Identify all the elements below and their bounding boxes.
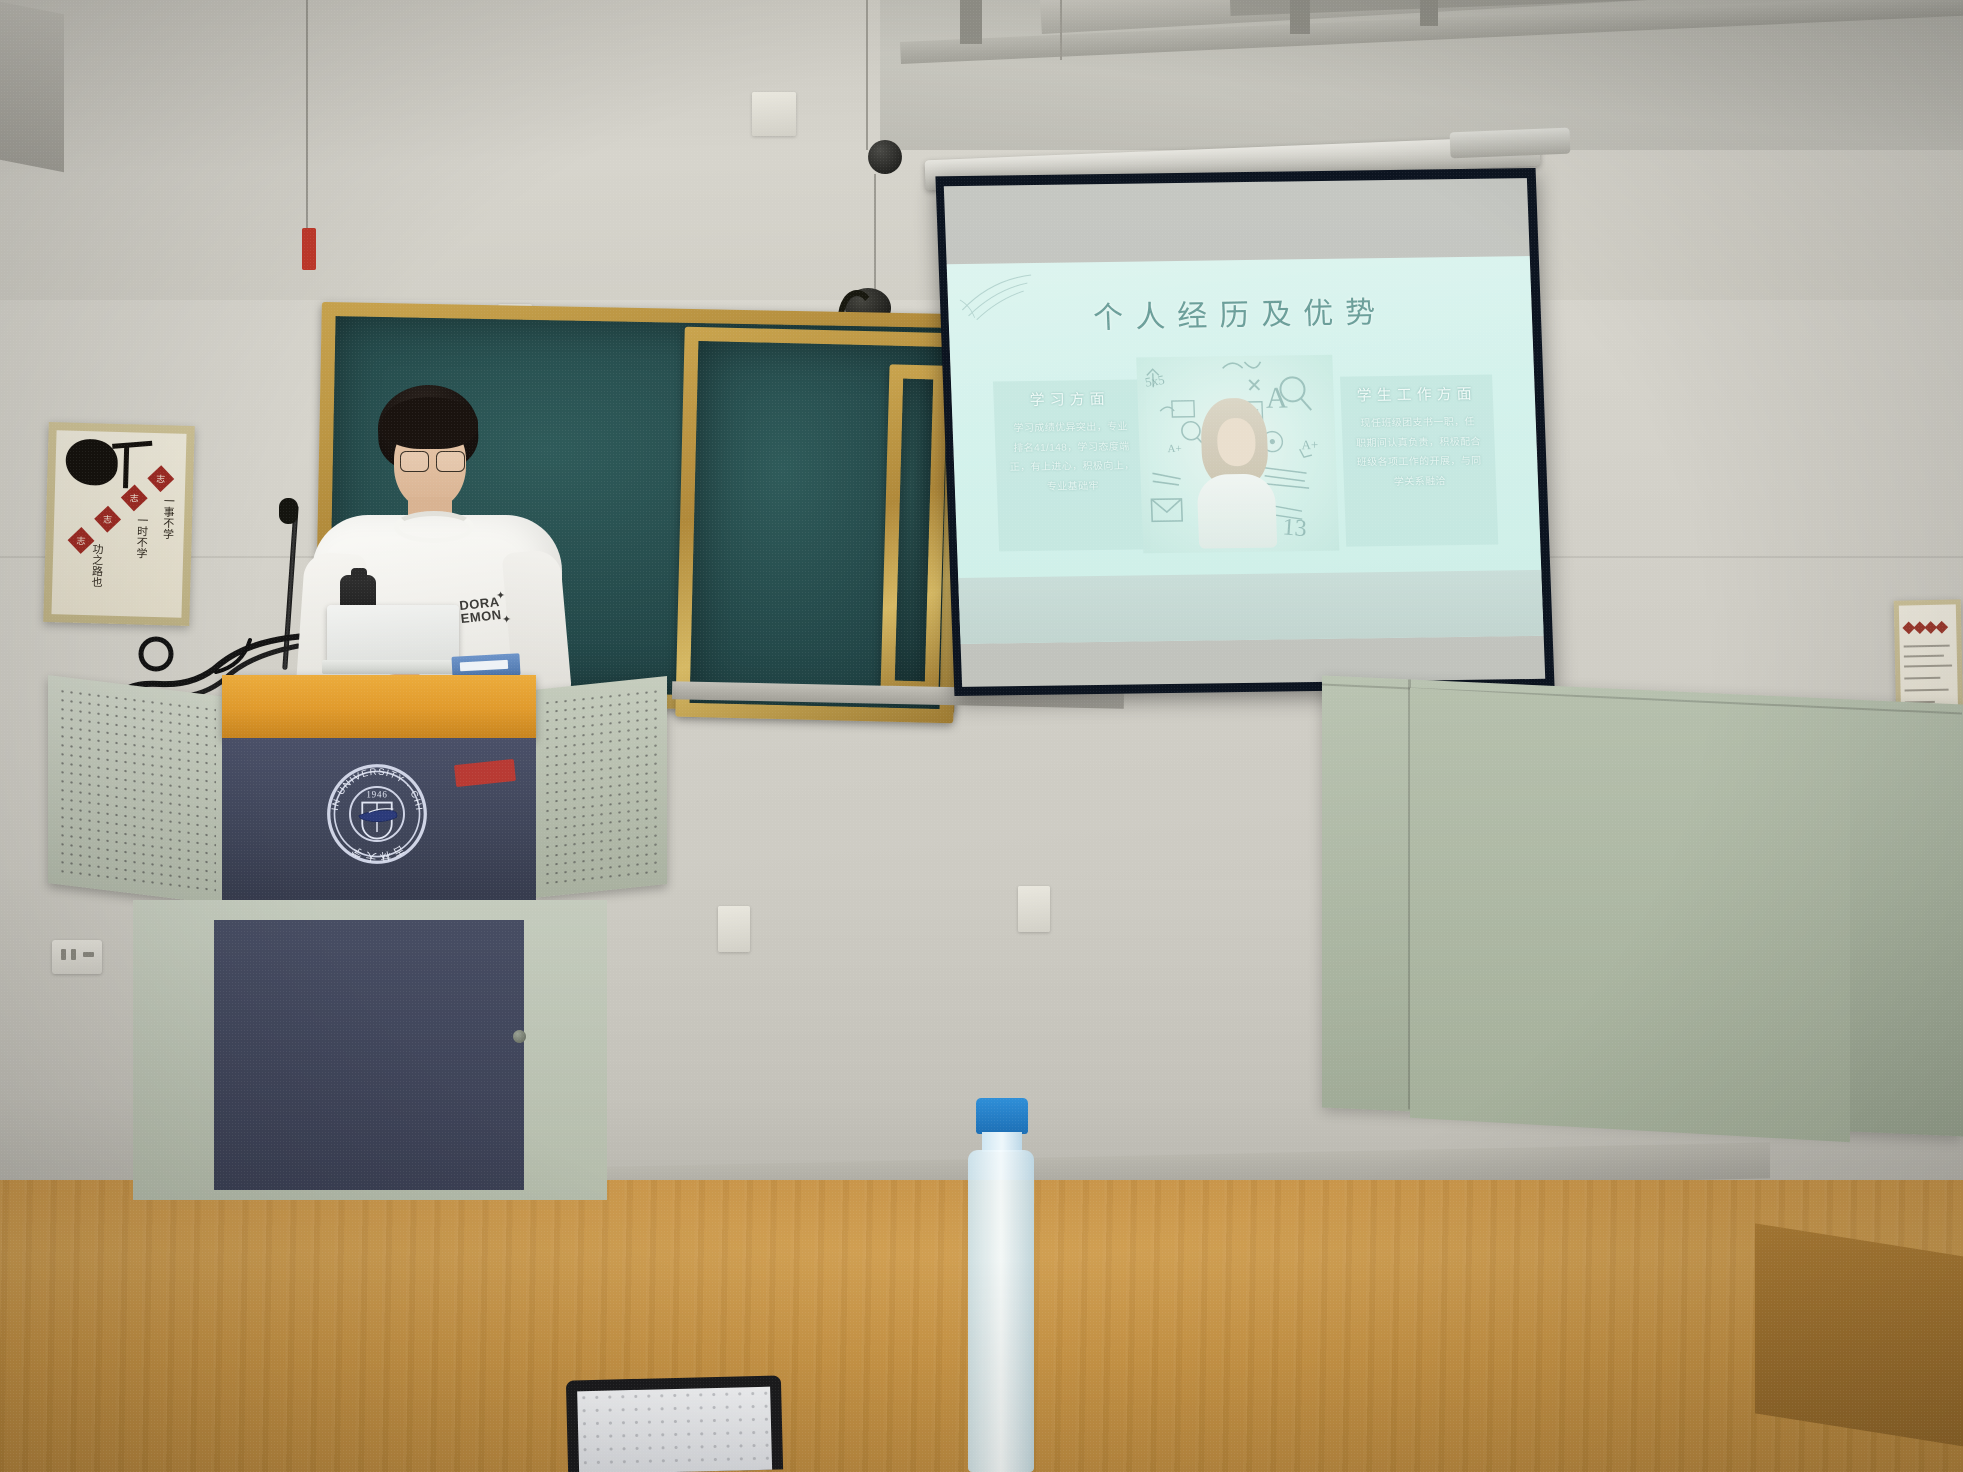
ceiling-microphone-icon xyxy=(868,140,902,174)
slide-footer-band xyxy=(958,570,1544,644)
ink-blob xyxy=(65,438,118,485)
poster-seal-char: 志 xyxy=(130,491,139,504)
ceiling-bracket xyxy=(960,0,982,44)
hanging-wire xyxy=(866,0,868,150)
jilin-university-seal: JILIN UNIVERSITY · CHINA 吉林大学 1946 xyxy=(311,760,443,868)
slide-panel-left-line: 专业基础牢 xyxy=(997,476,1150,498)
hanging-wire xyxy=(1060,0,1062,60)
bottle-body xyxy=(968,1150,1034,1472)
slide-panel-right: 学生工作方面 现任班级团支书一职，任 职期间认真负责，积极配合 班级各项工作的开… xyxy=(1340,375,1498,547)
wall-plate[interactable] xyxy=(718,906,750,952)
wall-plate[interactable] xyxy=(1018,886,1050,932)
hanging-wire xyxy=(306,0,308,230)
floor-trim xyxy=(1755,1223,1963,1446)
slide-photo: 5x5 A A+ A+ 13 xyxy=(1136,355,1339,554)
poster-seal-char: 志 xyxy=(76,534,85,547)
socket-hole xyxy=(71,949,76,960)
poster-seal-char: 志 xyxy=(156,472,165,485)
poster-text-line xyxy=(1904,655,1944,658)
ceiling-bracket xyxy=(1290,0,1310,34)
power-socket[interactable] xyxy=(52,940,102,974)
slide-content: 个人经历及优势 学习方面 学习成绩优异突出，专业 排名41/148，学习态度端 … xyxy=(947,256,1544,644)
thermos-cap xyxy=(351,568,367,580)
podium-laptop-base xyxy=(322,660,468,674)
blackboard-panel-3 xyxy=(880,364,947,695)
slide-panel-left-line: 排名41/148，学习态度端 xyxy=(995,437,1148,459)
foreground-laptop[interactable] xyxy=(566,1375,783,1472)
presenter-fringe xyxy=(382,397,478,449)
water-bottle[interactable] xyxy=(968,1098,1034,1472)
photo-person-face xyxy=(1216,418,1256,466)
projection-screen: 个人经历及优势 学习方面 学习成绩优异突出，专业 排名41/148，学习态度端 … xyxy=(935,168,1554,696)
poster-column-text: 一事不学 xyxy=(158,495,175,595)
hanging-wire xyxy=(874,174,876,296)
star-icon: ✦ xyxy=(496,589,505,602)
podium-knob[interactable] xyxy=(513,1030,526,1043)
slide-panel-right-line: 现任班级团支书一职，任 xyxy=(1341,413,1494,435)
bottle-neck xyxy=(982,1132,1022,1152)
ceiling-bracket xyxy=(1420,0,1438,26)
poster-seal-tile: 志 xyxy=(94,506,121,533)
poster-column-text: 一时不学 xyxy=(132,514,148,610)
star-icon: ✦ xyxy=(502,613,511,626)
slide-panel-right-heading: 学生工作方面 xyxy=(1340,383,1493,406)
podium-wing-left xyxy=(48,675,226,905)
poster-text-line xyxy=(1905,689,1949,692)
poster-text-line xyxy=(1904,665,1952,668)
slide-panel-left-line: 正，有上进心，积极向上， xyxy=(996,456,1149,478)
cabinet-front-panel[interactable] xyxy=(1410,688,1850,1143)
glasses-lens xyxy=(436,451,465,472)
screen-surface: 个人经历及优势 学习方面 学习成绩优异突出，专业 排名41/148，学习态度端 … xyxy=(944,178,1545,687)
wall-plate[interactable] xyxy=(752,92,796,136)
ink-stroke xyxy=(112,441,152,449)
slide-panel-right-line: 学关系融洽 xyxy=(1344,471,1497,493)
slide-panel-right-line: 职期间认真负责，积极配合 xyxy=(1342,432,1495,454)
slide-panel-left-heading: 学习方面 xyxy=(993,387,1146,410)
classroom-scene: 志 志 志 志 一事不学 一时不学 功之路也 xyxy=(0,0,1963,1472)
slide-panel-left-line: 学习成绩优异突出，专业 xyxy=(994,417,1147,439)
ink-stroke xyxy=(123,446,129,488)
socket-hole xyxy=(61,949,66,960)
podium-wing-right xyxy=(533,676,667,898)
presenter-collar xyxy=(394,511,474,543)
svg-text:吉林大学: 吉林大学 xyxy=(348,843,406,864)
glasses-lens xyxy=(400,451,429,472)
podium-laptop-lid[interactable] xyxy=(327,605,459,667)
poster-text-line xyxy=(1904,677,1940,680)
poster-seal-tile: 志 xyxy=(147,465,174,492)
poster-diamond-row xyxy=(1904,623,1946,633)
poster-seal-char: 志 xyxy=(103,513,112,526)
slide-panel-right-line: 班级各项工作的开展，与同 xyxy=(1343,452,1496,474)
svg-text:1946: 1946 xyxy=(366,790,387,800)
projector-screen-housing-end xyxy=(1450,128,1571,159)
bottle-cap xyxy=(976,1098,1028,1134)
calligraphy-poster-left: 志 志 志 志 一事不学 一时不学 功之路也 xyxy=(43,422,195,626)
poster-paper: 志 志 志 志 一事不学 一时不学 功之路也 xyxy=(51,430,186,618)
poster-text-line xyxy=(1904,645,1950,648)
speaker-grille-dots xyxy=(58,686,216,893)
poster-column-text: 功之路也 xyxy=(87,543,103,615)
poster-seal-tile: 志 xyxy=(121,484,148,511)
speaker-grille-dots xyxy=(543,687,657,887)
diamond-icon xyxy=(1935,621,1948,634)
slide-panel-left: 学习方面 学习成绩优异突出，专业 排名41/148，学习态度端 正，有上进心，积… xyxy=(993,379,1151,551)
podium-base-panel xyxy=(214,920,524,1190)
package-label xyxy=(460,660,508,671)
podium-top-surface xyxy=(222,675,536,739)
slide-photo-person xyxy=(1194,398,1278,549)
wall-red-tab xyxy=(302,228,316,270)
socket-hole xyxy=(83,952,94,957)
photo-person-body xyxy=(1197,474,1278,549)
presenter-glasses-icon xyxy=(400,451,466,470)
laptop-keyboard-area xyxy=(577,1387,772,1472)
laptop-keys xyxy=(577,1387,772,1472)
